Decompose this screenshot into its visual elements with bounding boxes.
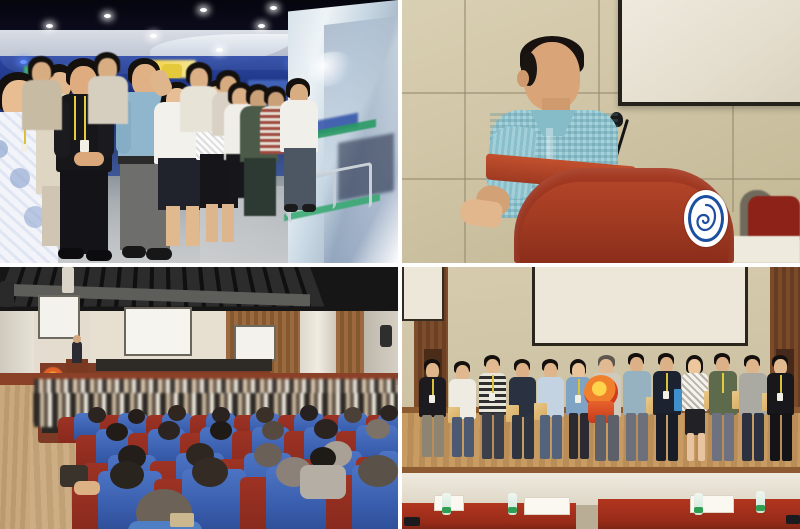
ceiling-spotlight <box>270 6 277 10</box>
bottle-cap <box>756 505 765 511</box>
projection-screen-left <box>38 295 80 339</box>
name-card <box>524 497 570 515</box>
wall-speaker <box>380 325 392 347</box>
projection-screen <box>618 0 800 106</box>
ceiling-spotlight <box>258 24 265 28</box>
bottle-cap <box>442 507 451 513</box>
projection-screen-surface <box>622 0 800 102</box>
spiral-icon <box>695 203 717 234</box>
ceiling-spotlight <box>200 8 207 12</box>
stage-speaker-head <box>73 335 81 343</box>
chandelier <box>62 267 74 293</box>
photo-bottom-left[interactable] <box>0 267 398 529</box>
wall-seam <box>732 92 734 212</box>
ceiling-spotlight <box>150 34 157 38</box>
ceiling-spotlight <box>46 24 53 28</box>
wall-speaker <box>0 281 14 307</box>
projection-screen-center <box>532 267 748 346</box>
ceiling-spotlight-blue <box>20 60 27 64</box>
bottle-cap <box>508 507 517 513</box>
stage-table <box>730 236 800 263</box>
bottle-cap <box>694 507 703 513</box>
stage-chair <box>748 196 800 240</box>
projection-screen-right <box>234 325 276 361</box>
photo-bottom-right[interactable] <box>402 267 800 529</box>
mobile-phone <box>404 517 420 526</box>
speaker-ear <box>517 70 529 87</box>
wall-seam <box>464 0 466 263</box>
head-table-chairs <box>96 359 272 371</box>
ceiling-spotlight <box>104 14 111 18</box>
photo-collage <box>0 0 800 529</box>
ceiling-spotlight <box>216 48 223 52</box>
podium-emblem <box>684 190 728 247</box>
stage-speaker-figure <box>72 341 82 363</box>
photo-top-right[interactable] <box>402 0 800 263</box>
mobile-phone <box>786 515 800 524</box>
projection-screen-left <box>402 267 444 321</box>
photo-top-left[interactable] <box>0 0 398 263</box>
projection-screen-center <box>124 307 192 356</box>
